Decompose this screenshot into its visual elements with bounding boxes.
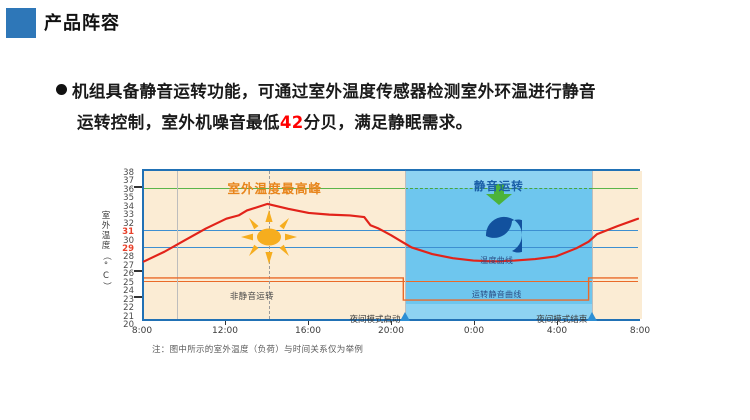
y-axis-title-char: ） — [101, 278, 111, 294]
noise-value-highlight: 42 — [280, 113, 304, 132]
outdoor-temperature-chart: 室外温度（°C） 3837363534333231302928272625242… — [96, 165, 656, 365]
x-axis-tick-label: 4:00 — [547, 326, 567, 336]
bullet-line-2: 运转控制，室外机噪音最低42分贝，满足静眠需求。 — [56, 107, 696, 138]
reference-line-36-right — [592, 188, 638, 189]
x-axis-tick-label: 8:00 — [630, 326, 650, 336]
quiet-operation-banner: 静音运转 — [405, 178, 592, 194]
x-axis-tick-mark — [391, 321, 392, 325]
bullet-dot-icon — [56, 84, 67, 95]
x-axis-tick-mark — [557, 321, 558, 325]
y-axis-title-char: 外 — [98, 221, 114, 231]
label-quiet-operation-curve: 运转静音曲线 — [461, 289, 533, 300]
x-axis-tick-label: 12:00 — [212, 326, 238, 336]
label-temperature-curve: 温度曲线 — [467, 255, 527, 266]
y-axis-title: 室外温度（°C） — [98, 211, 114, 291]
day-peak-banner: 室外温度最高峰 — [144, 178, 405, 197]
slide-root: 产品阵容 机组具备静音运转功能，可通过室外温度传感器检测室外环温进行静音 运转控… — [0, 0, 750, 420]
y-axis-title-char: 温 — [98, 231, 114, 241]
header-accent-square — [6, 8, 36, 38]
night-end-marker-icon — [587, 312, 597, 321]
y-axis-tick-mark — [134, 296, 142, 298]
x-axis-tick-label: 0:00 — [464, 326, 484, 336]
x-axis-tick-mark — [225, 321, 226, 325]
bullet-line-1-text: 机组具备静音运转功能，可通过室外温度传感器检测室外环温进行静音 — [72, 82, 596, 101]
bullet-text-block: 机组具备静音运转功能，可通过室外温度传感器检测室外环温进行静音 运转控制，室外机… — [56, 76, 696, 138]
x-axis-tick-mark — [474, 321, 475, 325]
x-axis-tick-label: 8:00 — [132, 326, 152, 336]
bullet-line-1: 机组具备静音运转功能，可通过室外温度传感器检测室外环温进行静音 — [56, 76, 696, 107]
x-axis: 8:0012:0016:0020:000:004:008:00 — [142, 321, 640, 345]
night-start-marker-icon — [400, 312, 410, 321]
slide-header: 产品阵容 — [0, 8, 750, 42]
x-axis-tick-label: 16:00 — [295, 326, 321, 336]
temperature-curve — [144, 204, 638, 262]
y-axis-tick-label: 31 — [116, 228, 134, 236]
y-axis-tick-mark — [134, 186, 142, 188]
y-axis-tick-label: 22 — [116, 304, 134, 312]
y-axis-title-char: （ — [101, 248, 111, 264]
x-axis-tick-mark — [308, 321, 309, 325]
y-axis-tick-mark — [134, 270, 142, 272]
page-title: 产品阵容 — [44, 9, 120, 35]
bullet-line-2-post: 分贝，满足静眠需求。 — [304, 113, 473, 132]
label-non-quiet-operation: 非静音运转 — [212, 290, 292, 302]
y-axis-ticks: 38373635343332313029282726252423222120 — [116, 169, 134, 321]
y-axis-title-char: 室 — [98, 211, 114, 221]
x-axis-tick-label: 20:00 — [378, 326, 404, 336]
plot-area: 室外温度最高峰 静音运转 非静音运转 温度曲线 运转静音曲线 夜间模式启动 夜间… — [142, 169, 640, 321]
bullet-line-2-pre: 运转控制，室外机噪音最低 — [77, 113, 280, 132]
chart-note: 注：图中所示的室外温度（负荷）与时间关系仅为举例 — [152, 343, 363, 355]
